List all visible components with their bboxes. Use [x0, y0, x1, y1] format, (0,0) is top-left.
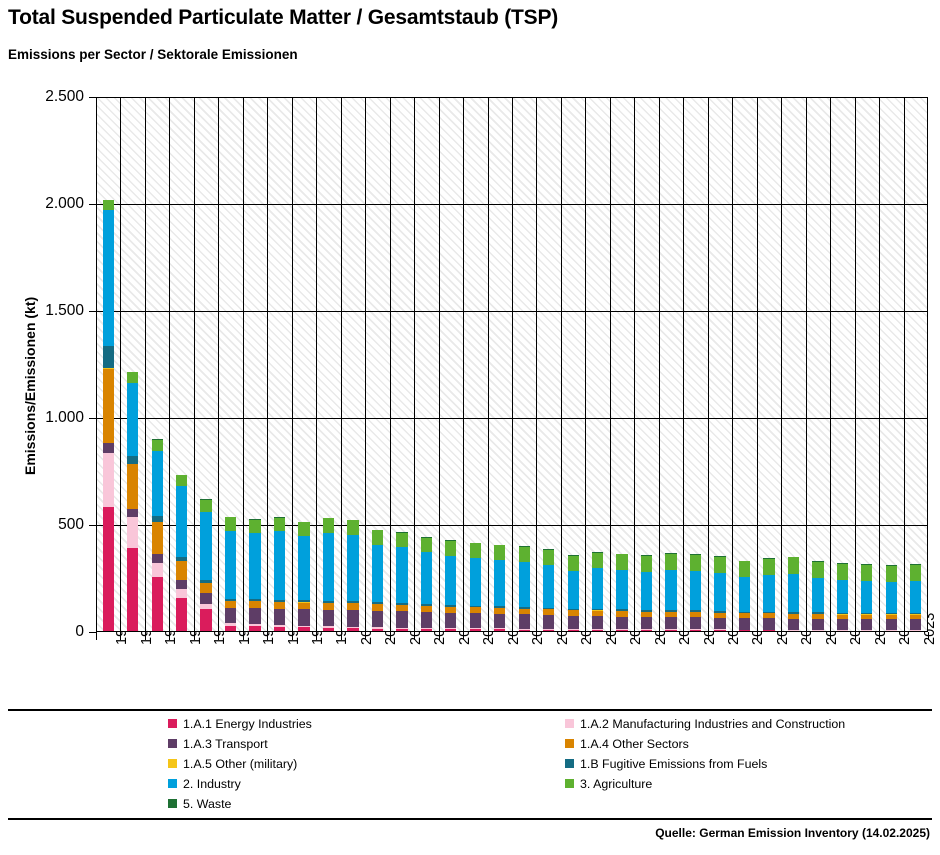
- bar-1995: [225, 517, 236, 632]
- bar-segment: [690, 571, 701, 611]
- bar-segment: [861, 619, 872, 630]
- bar-2023: [910, 564, 921, 632]
- bar-segment: [176, 589, 187, 598]
- legend-swatch-icon: [168, 759, 177, 768]
- bar-segment: [763, 575, 774, 611]
- bar-segment: [445, 613, 456, 628]
- bar-1991: [127, 372, 138, 632]
- bar-segment: [200, 512, 211, 580]
- bar-segment: [910, 581, 921, 613]
- bar-segment: [225, 531, 236, 599]
- bar-segment: [200, 609, 211, 632]
- bar-2001: [372, 530, 383, 632]
- y-axis-tick-mark: [89, 525, 96, 526]
- bar-2011: [616, 554, 627, 632]
- bar-1997: [274, 517, 285, 632]
- page-title: Total Suspended Particulate Matter / Ges…: [8, 6, 558, 30]
- legend-item-label: 5. Waste: [183, 797, 231, 811]
- bar-2021: [861, 564, 872, 632]
- bar-segment: [152, 451, 163, 517]
- bar-segment: [910, 631, 921, 632]
- legend-item[interactable]: 1.A.1 Energy Industries: [168, 714, 312, 733]
- bar-segment: [127, 456, 138, 463]
- page-subtitle: Emissions per Sector / Sektorale Emissio…: [8, 47, 298, 62]
- bar-segment: [714, 573, 725, 612]
- bar-segment: [152, 522, 163, 553]
- bar-segment: [249, 608, 260, 623]
- legend-item[interactable]: 1.A.2 Manufacturing Industries and Const…: [565, 714, 845, 733]
- bar-segment: [494, 614, 505, 629]
- bar-1999: [323, 518, 334, 632]
- bar-segment: [127, 517, 138, 548]
- legend-item[interactable]: 2. Industry: [168, 774, 312, 793]
- bar-segment: [910, 619, 921, 630]
- x-axis-tick-mark: [96, 632, 97, 640]
- bar-2005: [470, 543, 481, 632]
- bar-segment: [568, 571, 579, 608]
- bar-segment: [323, 628, 334, 632]
- bar-segment: [739, 618, 750, 629]
- bar-segment: [714, 618, 725, 630]
- bar-segment: [690, 555, 701, 571]
- bar-segment: [176, 598, 187, 632]
- bar-segment: [176, 475, 187, 486]
- bar-segment: [543, 565, 554, 608]
- bar-segment: [249, 520, 260, 533]
- bar-segment: [665, 630, 676, 632]
- bar-segment: [788, 557, 799, 573]
- bar-2008: [543, 549, 554, 632]
- bar-segment: [445, 556, 456, 605]
- bar-1993: [176, 475, 187, 632]
- bar-segment: [641, 630, 652, 632]
- bar-segment: [616, 570, 627, 610]
- bar-segment: [494, 560, 505, 606]
- bar-segment: [152, 563, 163, 577]
- bar-segment: [323, 603, 334, 610]
- bar-segment: [543, 550, 554, 565]
- y-axis-tick-mark: [89, 311, 96, 312]
- bar-segment: [103, 369, 114, 443]
- bar-2017: [763, 558, 774, 632]
- bar-segment: [323, 533, 334, 601]
- legend-swatch-icon: [168, 779, 177, 788]
- bar-segment: [714, 630, 725, 632]
- bar-segment: [176, 580, 187, 589]
- bar-segment: [568, 630, 579, 632]
- legend-swatch-icon: [565, 759, 574, 768]
- bar-segment: [739, 630, 750, 632]
- legend-top-rule: [8, 709, 932, 711]
- bar-segment: [739, 561, 750, 577]
- bar-segment: [274, 531, 285, 599]
- y-axis-tick-mark: [89, 97, 96, 98]
- bar-segment: [592, 616, 603, 629]
- y-axis-tick-mark: [89, 632, 96, 633]
- bar-segment: [274, 609, 285, 625]
- bar-segment: [323, 610, 334, 627]
- bar-segment: [225, 517, 236, 530]
- bar-1994: [200, 499, 211, 632]
- bar-segment: [445, 541, 456, 556]
- legend-item-label: 1.A.2 Manufacturing Industries and Const…: [580, 717, 845, 731]
- bar-2015: [714, 556, 725, 632]
- y-axis-tick-label: 500: [0, 516, 84, 534]
- bar-2018: [788, 557, 799, 632]
- bar-segment: [641, 556, 652, 572]
- bar-segment: [298, 603, 309, 610]
- bar-segment: [127, 383, 138, 457]
- bar-segment: [372, 629, 383, 632]
- legend-item-label: 1.B Fugitive Emissions from Fuels: [580, 757, 767, 771]
- bar-segment: [103, 507, 114, 632]
- bar-segment: [788, 619, 799, 630]
- bar-segment: [445, 629, 456, 632]
- bar-2000: [347, 520, 358, 632]
- legend-item[interactable]: 1.A.4 Other Sectors: [565, 734, 845, 753]
- bar-segment: [763, 618, 774, 629]
- bar-segment: [886, 582, 897, 613]
- bar-segment: [543, 615, 554, 629]
- bar-segment: [103, 453, 114, 507]
- bar-segment: [470, 558, 481, 605]
- bar-1996: [249, 519, 260, 632]
- bar-segment: [347, 603, 358, 610]
- bar-segment: [152, 440, 163, 451]
- bar-segment: [788, 574, 799, 613]
- bar-segment: [396, 547, 407, 603]
- bar-segment: [421, 629, 432, 632]
- bar-segment: [837, 619, 848, 630]
- bar-segment: [127, 509, 138, 518]
- bar-segment: [274, 602, 285, 609]
- bar-segment: [592, 630, 603, 632]
- bar-segment: [298, 536, 309, 600]
- bar-segment: [690, 630, 701, 632]
- bar-segment: [519, 562, 530, 607]
- bar-segment: [421, 538, 432, 553]
- legend-item[interactable]: 1.A.5 Other (military): [168, 754, 312, 773]
- legend-item-label: 1.A.3 Transport: [183, 737, 268, 751]
- bar-series-container: [96, 97, 928, 632]
- bar-segment: [323, 518, 334, 532]
- bar-segment: [274, 518, 285, 532]
- bar-segment: [763, 630, 774, 632]
- bar-segment: [494, 545, 505, 560]
- bar-segment: [200, 500, 211, 512]
- bar-segment: [616, 617, 627, 629]
- legend-column-left: 1.A.1 Energy Industries1.A.3 Transport1.…: [168, 714, 312, 814]
- bar-2019: [812, 561, 823, 632]
- legend-item-label: 1.A.5 Other (military): [183, 757, 297, 771]
- legend-bottom-rule: [8, 818, 932, 820]
- legend-item-label: 3. Agriculture: [580, 777, 652, 791]
- bar-segment: [298, 522, 309, 536]
- bar-segment: [127, 372, 138, 382]
- bar-segment: [127, 464, 138, 508]
- y-axis-tick-label: 2.500: [0, 88, 84, 106]
- bar-segment: [347, 628, 358, 632]
- bar-segment: [665, 554, 676, 570]
- bar-segment: [494, 629, 505, 632]
- legend-item[interactable]: 1.A.3 Transport: [168, 734, 312, 753]
- legend-item-label: 1.A.4 Other Sectors: [580, 737, 689, 751]
- bar-2004: [445, 540, 456, 632]
- bar-segment: [372, 611, 383, 628]
- bar-segment: [861, 581, 872, 613]
- legend-swatch-icon: [168, 799, 177, 808]
- legend-swatch-icon: [168, 719, 177, 728]
- legend-item-label: 1.A.1 Energy Industries: [183, 717, 312, 731]
- bar-segment: [837, 631, 848, 632]
- bar-segment: [176, 561, 187, 580]
- legend-swatch-icon: [168, 739, 177, 748]
- legend-item[interactable]: 1.B Fugitive Emissions from Fuels: [565, 754, 845, 773]
- bar-2006: [494, 545, 505, 632]
- bar-segment: [690, 617, 701, 629]
- bar-segment: [861, 631, 872, 632]
- chart-page: Total Suspended Particulate Matter / Ges…: [0, 0, 940, 855]
- bar-segment: [421, 552, 432, 603]
- bar-segment: [886, 619, 897, 630]
- y-axis-tick-label: 0: [0, 623, 84, 641]
- bar-segment: [763, 559, 774, 575]
- bar-segment: [812, 562, 823, 578]
- bar-segment: [470, 613, 481, 628]
- bar-segment: [372, 530, 383, 544]
- bar-segment: [103, 210, 114, 346]
- bar-segment: [396, 533, 407, 548]
- bar-segment: [347, 610, 358, 627]
- source-note: Quelle: German Emission Inventory (14.02…: [655, 826, 930, 840]
- legend-item-label: 2. Industry: [183, 777, 241, 791]
- bar-2016: [739, 561, 750, 632]
- bar-segment: [812, 631, 823, 632]
- bar-segment: [543, 630, 554, 632]
- bar-segment: [225, 601, 236, 608]
- bar-segment: [176, 486, 187, 557]
- bar-segment: [200, 583, 211, 592]
- bar-segment: [519, 614, 530, 628]
- bar-segment: [103, 346, 114, 369]
- bar-segment: [641, 617, 652, 629]
- bar-2003: [421, 537, 432, 632]
- y-axis-tick-label: 1.500: [0, 302, 84, 320]
- bar-segment: [396, 611, 407, 627]
- bar-2009: [568, 555, 579, 632]
- y-axis-tick-mark: [89, 204, 96, 205]
- bar-segment: [641, 572, 652, 611]
- bar-segment: [812, 619, 823, 630]
- bar-2014: [690, 554, 701, 632]
- bar-segment: [470, 629, 481, 632]
- bar-segment: [592, 553, 603, 568]
- bar-segment: [225, 608, 236, 623]
- bar-segment: [788, 631, 799, 632]
- bar-segment: [103, 443, 114, 453]
- bar-2007: [519, 546, 530, 632]
- bar-segment: [347, 535, 358, 601]
- bar-segment: [152, 554, 163, 563]
- legend-swatch-icon: [565, 739, 574, 748]
- bar-2012: [641, 555, 652, 632]
- bar-segment: [519, 630, 530, 632]
- bar-segment: [249, 626, 260, 632]
- bar-2002: [396, 532, 407, 632]
- bar-segment: [200, 593, 211, 604]
- bar-1998: [298, 522, 309, 632]
- bar-segment: [714, 557, 725, 573]
- y-axis-label: Emissions/Emissionen (kt): [22, 296, 38, 474]
- legend-item[interactable]: 5. Waste: [168, 794, 312, 813]
- bar-2020: [837, 563, 848, 632]
- bar-segment: [665, 617, 676, 629]
- bar-segment: [739, 577, 750, 611]
- y-axis-tick-label: 2.000: [0, 195, 84, 213]
- bar-1992: [152, 439, 163, 632]
- bar-segment: [225, 626, 236, 632]
- bar-segment: [910, 565, 921, 581]
- bar-segment: [861, 565, 872, 581]
- legend-swatch-icon: [565, 779, 574, 788]
- bar-segment: [421, 612, 432, 628]
- bar-segment: [249, 533, 260, 599]
- bar-segment: [568, 556, 579, 571]
- bar-segment: [519, 547, 530, 562]
- bar-segment: [616, 630, 627, 632]
- plot-area: [96, 97, 928, 632]
- bar-segment: [470, 543, 481, 558]
- bar-1990: [103, 200, 114, 632]
- bar-segment: [886, 566, 897, 582]
- bar-segment: [812, 578, 823, 612]
- bar-segment: [568, 616, 579, 629]
- bar-segment: [298, 627, 309, 632]
- legend-column-right: 1.A.2 Manufacturing Industries and Const…: [565, 714, 845, 794]
- bar-segment: [249, 601, 260, 608]
- bar-segment: [372, 545, 383, 603]
- bar-segment: [127, 548, 138, 632]
- bar-segment: [837, 580, 848, 613]
- bar-2010: [592, 552, 603, 632]
- bar-2013: [665, 553, 676, 632]
- bar-segment: [592, 568, 603, 609]
- bar-segment: [347, 520, 358, 534]
- bar-segment: [103, 200, 114, 209]
- bar-segment: [837, 564, 848, 580]
- y-axis-tick-mark: [89, 418, 96, 419]
- bar-segment: [616, 554, 627, 570]
- bar-2022: [886, 565, 897, 632]
- y-axis-tick-label: 1.000: [0, 409, 84, 427]
- bar-segment: [298, 609, 309, 625]
- bar-segment: [396, 629, 407, 632]
- legend-item[interactable]: 3. Agriculture: [565, 774, 845, 793]
- bar-segment: [152, 577, 163, 632]
- bar-segment: [665, 570, 676, 611]
- bar-segment: [274, 627, 285, 632]
- bar-segment: [886, 631, 897, 632]
- legend-swatch-icon: [565, 719, 574, 728]
